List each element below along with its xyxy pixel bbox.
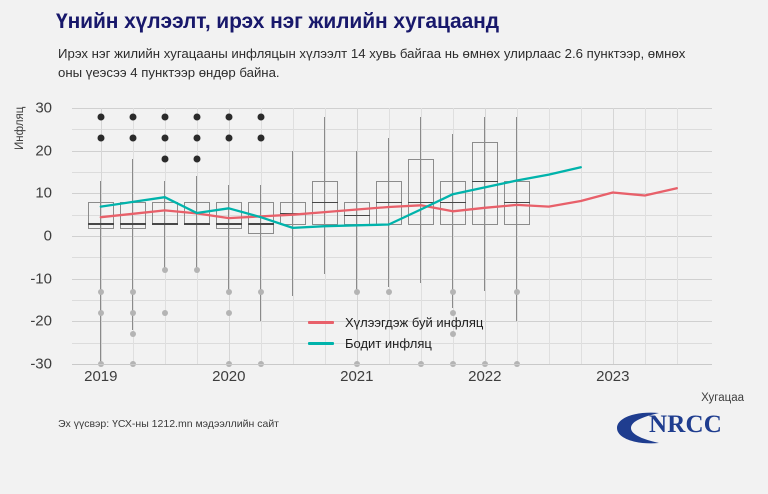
page-title: Үнийн хүлээлт, ирэх нэг жилийн хугацаанд: [56, 10, 716, 34]
page-subtitle: Ирэх нэг жилийн хугацааны инфляцын хүлээ…: [58, 44, 708, 82]
legend-label-actual: Бодит инфляц: [345, 336, 432, 351]
x-axis-title: Хугацаа: [701, 392, 744, 404]
legend-swatch-expected: [308, 321, 334, 324]
legend-label-expected: Хүлээгдэж буй инфляц: [345, 315, 483, 330]
line-expected-inflation: [101, 188, 677, 218]
y-tick-label: -20: [0, 313, 52, 330]
x-tick-label: 2023: [596, 368, 629, 385]
nrcc-logo: NRCC: [615, 405, 725, 449]
chart-page: Үнийн хүлээлт, ирэх нэг жилийн хугацаанд…: [0, 0, 768, 494]
x-tick-label: 2022: [468, 368, 501, 385]
y-tick-label: 10: [0, 185, 52, 202]
source-note: Эх үүсвэр: ҮСХ-ны 1212.mn мэдээллийн сай…: [58, 418, 279, 430]
line-actual-inflation: [101, 167, 581, 228]
y-tick-label: 30: [0, 100, 52, 117]
x-tick-label: 2021: [340, 368, 373, 385]
y-tick-label: -30: [0, 356, 52, 373]
x-tick-label: 2019: [84, 368, 117, 385]
legend-item-actual: Бодит инфляц: [308, 333, 483, 354]
x-axis-line: [72, 364, 712, 365]
legend-swatch-actual: [308, 342, 334, 345]
legend: Хүлээгдэж буй инфляц Бодит инфляц: [308, 312, 483, 354]
logo-text: NRCC: [649, 411, 722, 439]
y-tick-label: 20: [0, 142, 52, 159]
y-tick-label: -10: [0, 270, 52, 287]
legend-item-expected: Хүлээгдэж буй инфляц: [308, 312, 483, 333]
x-tick-label: 2020: [212, 368, 245, 385]
y-tick-label: 0: [0, 228, 52, 245]
